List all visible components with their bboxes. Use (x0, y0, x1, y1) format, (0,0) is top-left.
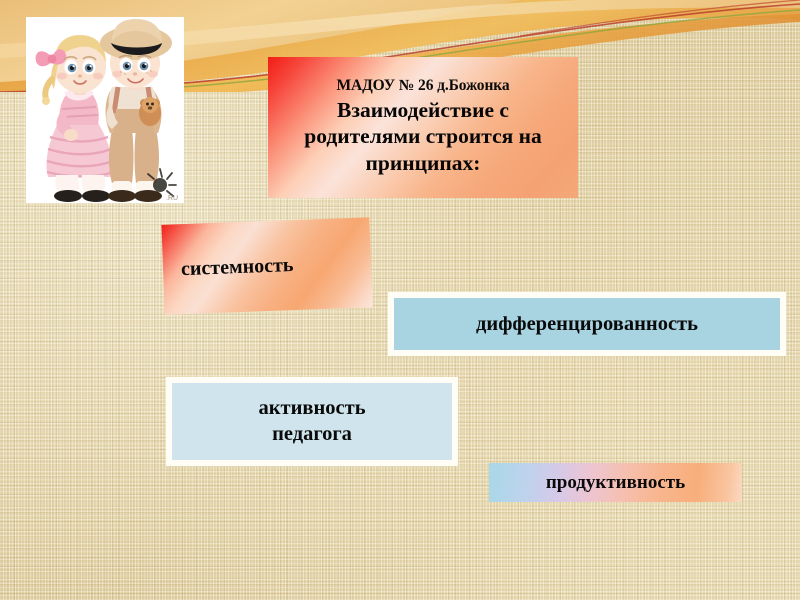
principle-label-aktivnost-pedagoga: активность педагога (258, 396, 365, 447)
principle-label-produktivnost: продуктивность (546, 472, 685, 494)
page-title: Взаимодействие с родителями строится на … (304, 97, 542, 176)
principle-box-differencirovannost[interactable]: дифференцированность (388, 292, 786, 356)
principle-label-systemnost: системность (181, 254, 294, 281)
presentation-slide: .RU МАДОУ № 26 д.Божонка Взаимодействие … (0, 0, 800, 600)
two-children-clipart: .RU (26, 17, 184, 203)
principle-label-differencirovannost: дифференцированность (476, 313, 698, 336)
slide-title-box: МАДОУ № 26 д.Божонка Взаимодействие с ро… (268, 57, 578, 198)
svg-text:.RU: .RU (166, 195, 178, 202)
principle-box-produktivnost[interactable]: продуктивность (489, 463, 742, 502)
organization-name: МАДОУ № 26 д.Божонка (336, 77, 509, 94)
principle-box-aktivnost-pedagoga[interactable]: активность педагога (166, 377, 458, 466)
principle-box-systemnost[interactable]: системность (161, 217, 372, 315)
